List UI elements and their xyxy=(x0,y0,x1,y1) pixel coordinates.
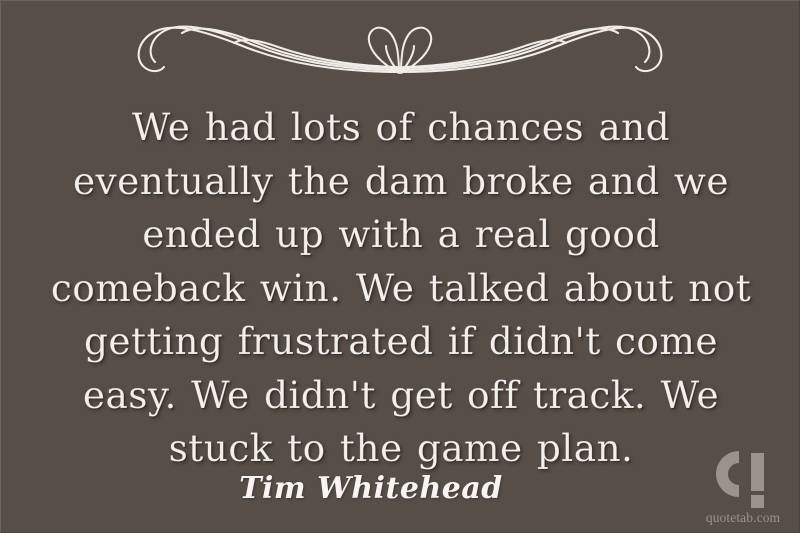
quote-author: Tim Whitehead xyxy=(1,467,741,511)
decorative-flourish-ornament xyxy=(70,9,730,95)
quotetab-logo-icon xyxy=(714,449,772,509)
quote-text: We had lots of chances and eventually th… xyxy=(45,101,757,476)
brand-watermark[interactable]: quotetab.com xyxy=(695,449,791,526)
quote-card: We had lots of chances and eventually th… xyxy=(0,0,800,533)
brand-site-label: quotetab.com xyxy=(695,510,791,526)
